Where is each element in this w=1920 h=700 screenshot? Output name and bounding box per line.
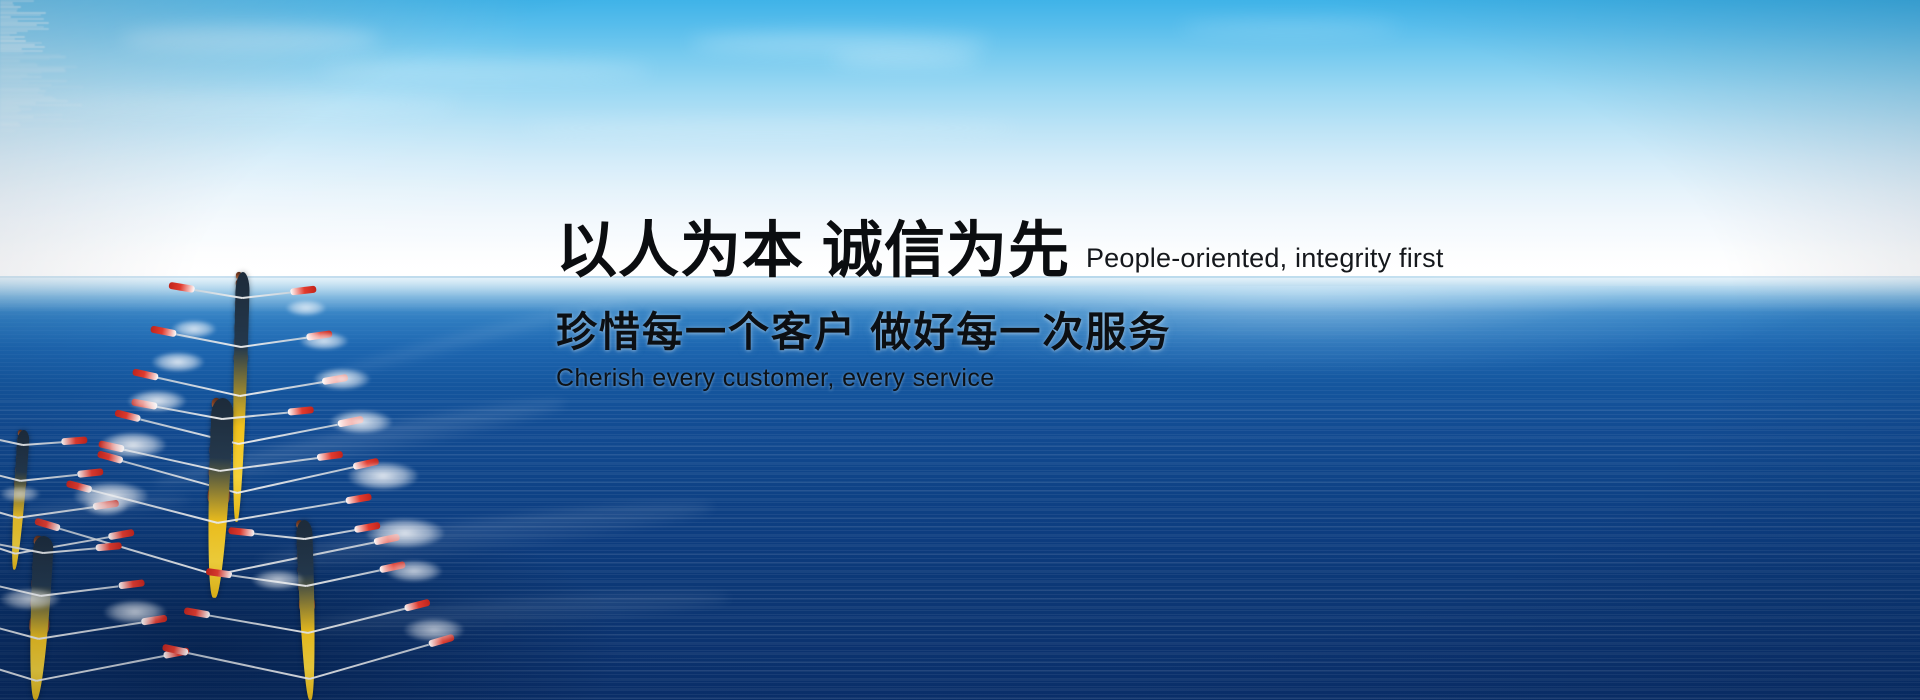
headline-row: 以人为本 诚信为先 People-oriented, integrity fir… (556, 218, 1476, 284)
cloud-wisp (120, 26, 380, 52)
cloud-wisp (320, 60, 650, 80)
cloud-wisp (690, 32, 990, 54)
headline-english: People-oriented, integrity first (1086, 243, 1444, 274)
subhead-chinese: 珍惜每一个客户 做好每一次服务 (556, 298, 1476, 358)
hero-banner: 以人为本 诚信为先 People-oriented, integrity fir… (0, 0, 1920, 700)
cloud-wisp (40, 96, 460, 114)
banner-copy: 以人为本 诚信为先 People-oriented, integrity fir… (556, 218, 1476, 393)
subhead-english: Cherish every customer, every service (556, 364, 1476, 393)
cloud-wisp (830, 52, 980, 66)
cloud-wisp (520, 120, 1020, 136)
cloud-wisp (1180, 20, 1400, 36)
headline-chinese: 以人为本 诚信为先 (556, 218, 1070, 284)
